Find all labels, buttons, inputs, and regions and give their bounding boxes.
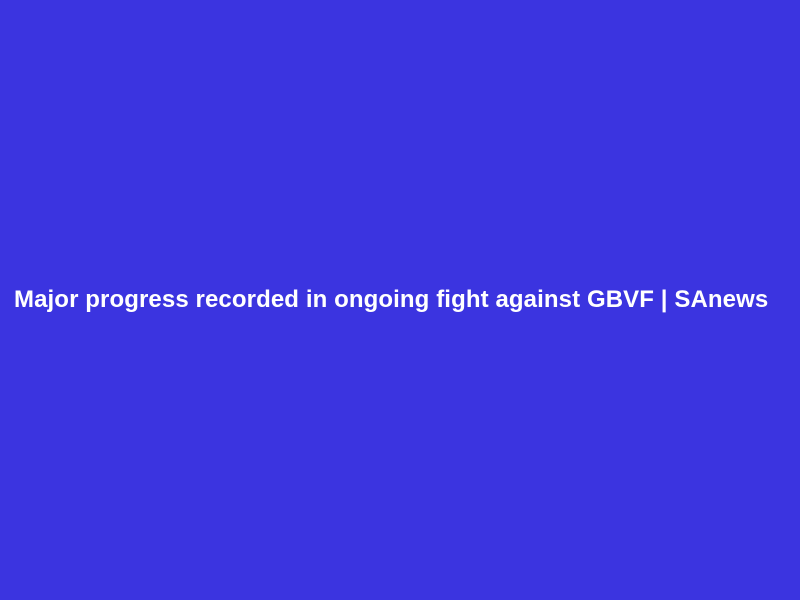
- page-canvas: Major progress recorded in ongoing fight…: [0, 0, 800, 600]
- page-title: Major progress recorded in ongoing fight…: [0, 286, 800, 314]
